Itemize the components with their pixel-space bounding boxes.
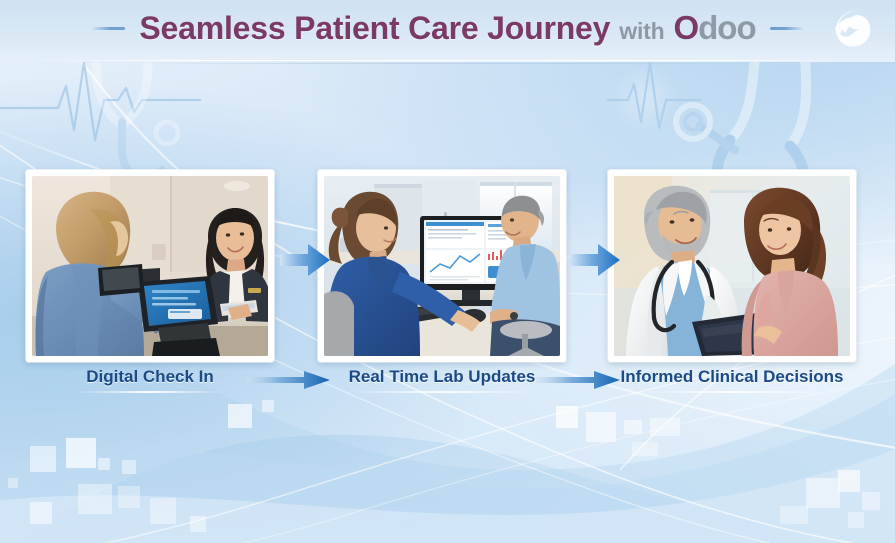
- page-title-row: Seamless Patient Care Journey with Odoo: [0, 2, 895, 54]
- header-divider-line: [36, 60, 859, 61]
- photo-2-illustration: [324, 176, 560, 356]
- caption-underline: [349, 391, 535, 393]
- photo-informed-clinical-decisions: [614, 176, 850, 356]
- swoosh-icon-svg: [821, 4, 879, 54]
- arrow-right-icon: [570, 240, 620, 280]
- ekg-heartbeat-line-left: [0, 62, 200, 140]
- caption-flow-arrow-2: [536, 371, 620, 389]
- caption-label: Real Time Lab Updates: [318, 366, 566, 388]
- stethoscope-watermark-left: [96, 55, 178, 180]
- odoo-brand-rest: doo: [698, 9, 755, 46]
- arrow-right-icon: [280, 240, 330, 280]
- title-connector-text: with: [619, 18, 664, 45]
- photo-real-time-lab-updates: [324, 176, 560, 356]
- flow-arrow-step2-step3: [570, 240, 620, 280]
- header-divider-line-secondary: [120, 63, 775, 64]
- step-card-real-time-lab-updates[interactable]: [318, 170, 566, 362]
- step-card-digital-check-in[interactable]: [26, 170, 274, 362]
- title-dash-right: [770, 27, 804, 30]
- photo-3-illustration: [614, 176, 850, 356]
- caption-label: Informed Clinical Decisions: [608, 366, 856, 388]
- caption-label: Digital Check In: [26, 366, 274, 388]
- translucent-squares-center: [228, 400, 680, 456]
- step-captions: Digital Check In Real Time Lab Updates I…: [0, 366, 895, 404]
- step-card-informed-clinical-decisions[interactable]: [608, 170, 856, 362]
- flow-arrow-step1-step2: [280, 240, 330, 280]
- journey-step-cards: [0, 170, 895, 365]
- photo-1-illustration: [32, 176, 268, 356]
- odoo-brand-wordmark: Odoo: [673, 9, 755, 47]
- title-dash-left: [91, 27, 125, 30]
- translucent-squares-left: [8, 438, 206, 532]
- odoo-brand-first-letter: O: [673, 9, 698, 46]
- ekg-heartbeat-line-right: [608, 62, 700, 132]
- caption-real-time-lab-updates: Real Time Lab Updates: [318, 366, 566, 393]
- caption-underline: [639, 391, 825, 393]
- caption-digital-check-in: Digital Check In: [26, 366, 274, 393]
- infographic-canvas: Seamless Patient Care Journey with Odoo: [0, 0, 895, 543]
- photo-digital-check-in: [32, 176, 268, 356]
- arrow-right-icon: [246, 371, 330, 389]
- odoo-swoosh-logo-icon: [821, 4, 879, 54]
- title-main-text: Seamless Patient Care Journey: [139, 10, 610, 47]
- caption-underline: [75, 391, 225, 393]
- caption-informed-clinical-decisions: Informed Clinical Decisions: [608, 366, 856, 393]
- page-title: Seamless Patient Care Journey with Odoo: [139, 9, 755, 47]
- arrow-right-icon: [536, 371, 620, 389]
- translucent-squares-right: [780, 470, 880, 528]
- caption-flow-arrow-1: [246, 371, 330, 389]
